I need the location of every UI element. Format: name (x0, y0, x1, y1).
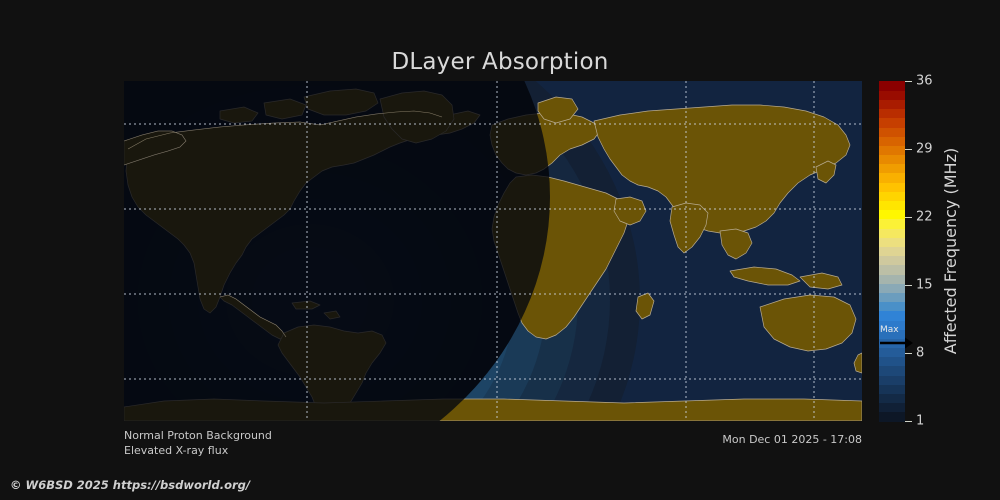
colorbar-segment (879, 366, 905, 376)
figure-canvas: DLayer Absorption (0, 0, 1000, 500)
colorbar-tick-mark (905, 353, 912, 354)
colorbar[interactable] (879, 81, 905, 421)
colorbar-tick-label: 15 (916, 278, 933, 293)
colorbar-tick-mark (905, 149, 912, 150)
colorbar-segment (879, 109, 905, 119)
colorbar-tick-mark (905, 285, 912, 286)
colorbar-segment (879, 191, 905, 201)
colorbar-segment (879, 320, 905, 330)
colorbar-segment (879, 375, 905, 385)
colorbar-segment (879, 292, 905, 302)
colorbar-segment (879, 403, 905, 413)
colorbar-segment (879, 384, 905, 394)
colorbar-segment (879, 200, 905, 210)
colorbar-segment (879, 283, 905, 293)
colorbar-tick-mark (905, 421, 912, 422)
colorbar-tick-label: 22 (916, 210, 933, 225)
colorbar-segment (879, 182, 905, 192)
colorbar-segment (879, 173, 905, 183)
colorbar-tick-mark (905, 81, 912, 82)
colorbar-segment (879, 412, 905, 422)
colorbar-segment (879, 155, 905, 165)
colorbar-segment (879, 228, 905, 238)
colorbar-segment (879, 127, 905, 137)
colorbar-segment (879, 237, 905, 247)
timestamp: Mon Dec 01 2025 - 17:08 (562, 433, 862, 446)
colorbar-segment (879, 393, 905, 403)
colorbar-segment (879, 90, 905, 100)
colorbar-segment (879, 164, 905, 174)
status-notes: Normal Proton Background Elevated X-ray … (124, 429, 272, 458)
colorbar-segment (879, 302, 905, 312)
map-canvas (124, 81, 862, 421)
colorbar-segment (879, 246, 905, 256)
colorbar-segment (879, 347, 905, 357)
colorbar-segment (879, 265, 905, 275)
colorbar-segment (879, 219, 905, 229)
colorbar-segment (879, 136, 905, 146)
world-map[interactable] (124, 81, 862, 421)
colorbar-tick-label: 29 (916, 142, 933, 157)
copyright-credit: © W6BSD 2025 https://bsdworld.org/ (10, 478, 250, 492)
colorbar-segment (879, 357, 905, 367)
colorbar-segment (879, 274, 905, 284)
proton-background-note: Normal Proton Background (124, 429, 272, 444)
night-overlay (124, 81, 862, 421)
colorbar-segment (879, 338, 905, 348)
colorbar-tick-label: 36 (916, 74, 933, 89)
colorbar-segment (879, 311, 905, 321)
colorbar-segment (879, 99, 905, 109)
colorbar-segment (879, 145, 905, 155)
colorbar-tick-label: 1 (916, 414, 924, 429)
colorbar-tick-label: 8 (916, 346, 924, 361)
colorbar-segment (879, 329, 905, 339)
colorbar-segment (879, 210, 905, 220)
page-title: DLayer Absorption (0, 48, 1000, 76)
colorbar-tick-mark (905, 217, 912, 218)
colorbar-segment (879, 81, 905, 91)
colorbar-segment (879, 256, 905, 266)
xray-flux-note: Elevated X-ray flux (124, 444, 272, 459)
colorbar-axis-label: Affected Frequency (MHz) (938, 81, 964, 421)
colorbar-segment (879, 118, 905, 128)
